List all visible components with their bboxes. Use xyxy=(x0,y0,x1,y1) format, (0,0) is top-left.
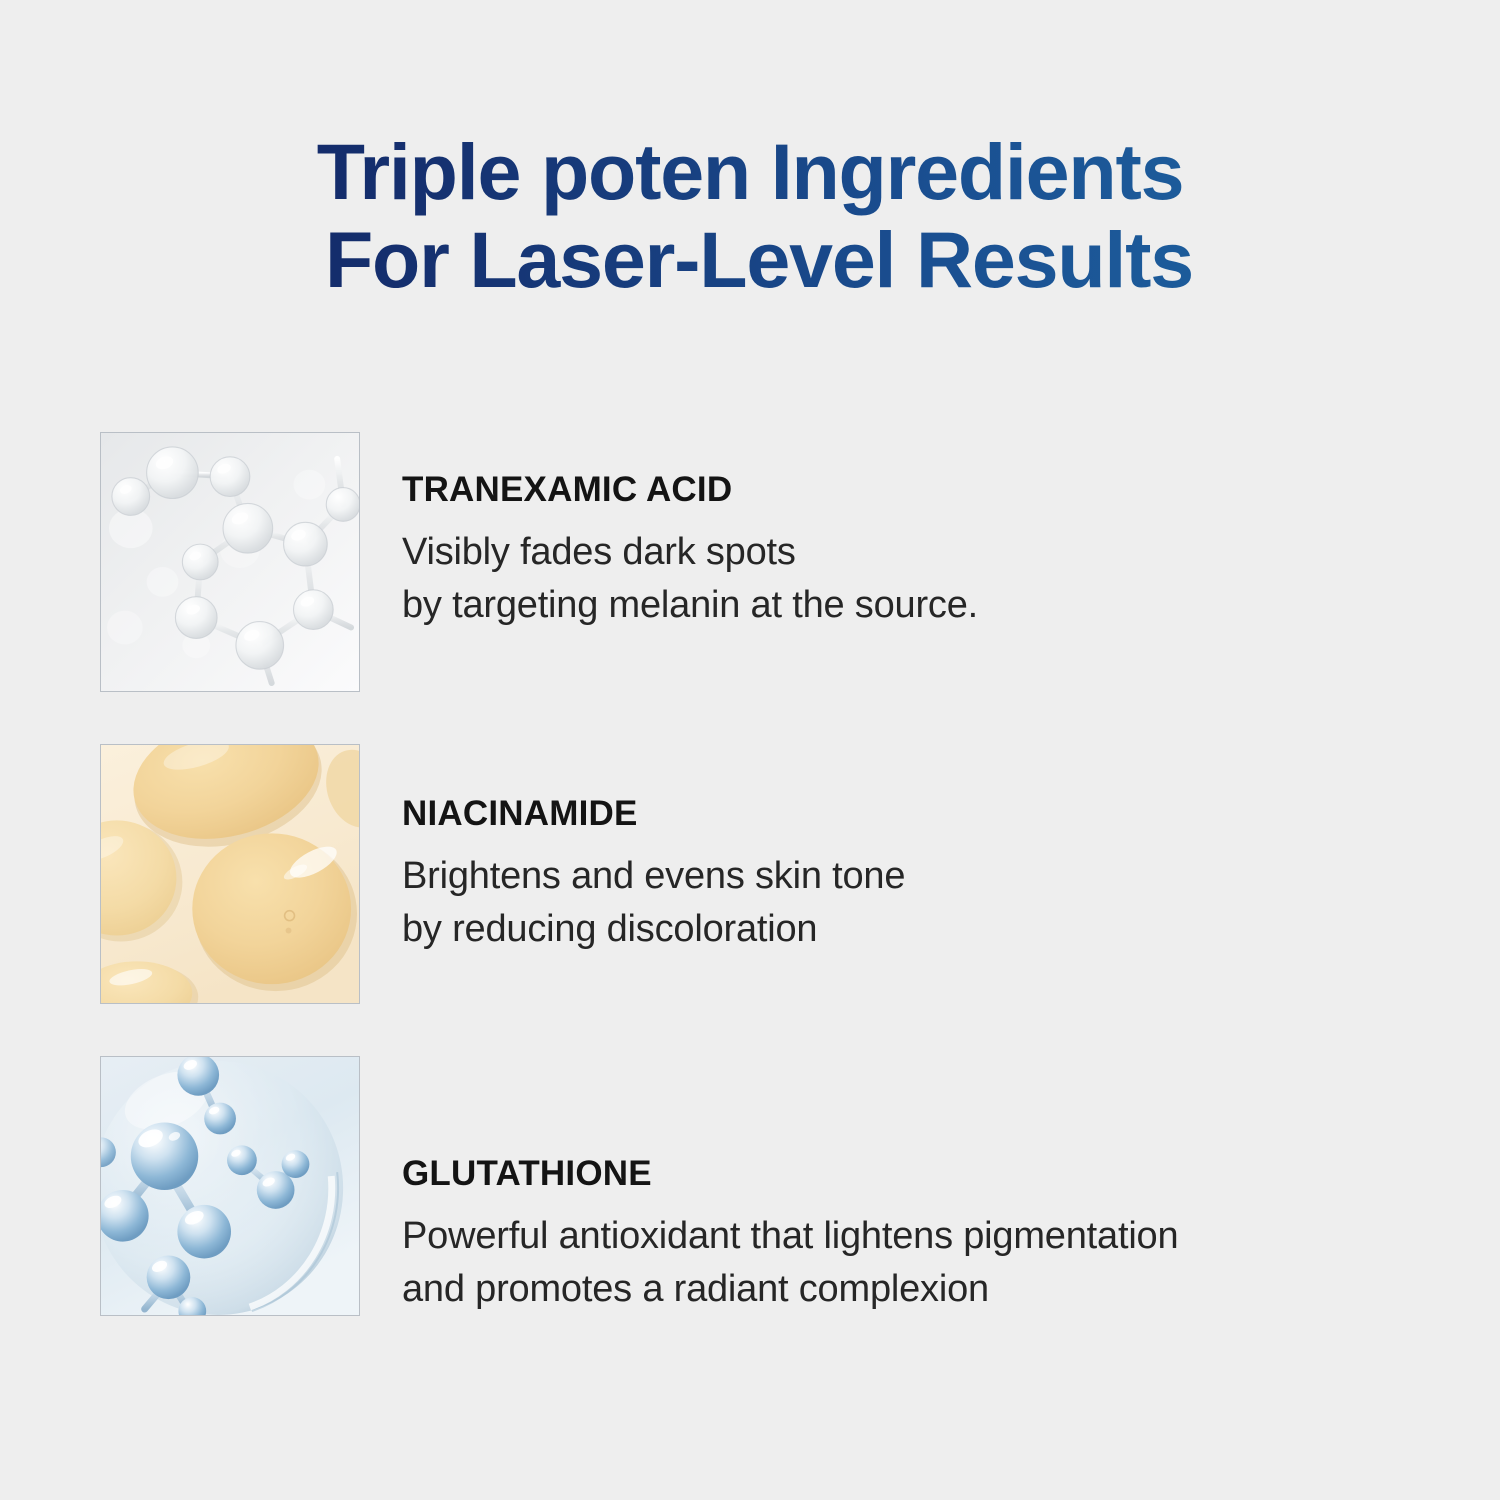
ingredient-copy: TRANEXAMIC ACID Visibly fades dark spots… xyxy=(402,432,1442,728)
page-title: Triple poten Ingredients For Laser-Level… xyxy=(0,128,1500,304)
ingredient-copy: NIACINAMIDE Brightens and evens skin ton… xyxy=(402,744,1442,1004)
ingredient-image-niacinamide xyxy=(100,744,360,1004)
white-molecule-lattice-icon xyxy=(101,433,359,691)
title-line-2: For Laser-Level Results xyxy=(0,216,1500,304)
golden-serum-droplets-icon xyxy=(101,745,359,1003)
ingredient-copy: GLUTATHIONE Powerful antioxidant that li… xyxy=(402,1056,1442,1332)
ingredient-name: TRANEXAMIC ACID xyxy=(402,468,1442,512)
ingredient-row: TRANEXAMIC ACID Visibly fades dark spots… xyxy=(0,432,1500,692)
ingredient-description: Powerful antioxidant that lightens pigme… xyxy=(402,1210,1442,1316)
description-line-2: by targeting melanin at the source. xyxy=(402,579,1442,632)
ingredient-row: GLUTATHIONE Powerful antioxidant that li… xyxy=(0,1056,1500,1316)
ingredient-description: Visibly fades dark spots by targeting me… xyxy=(402,526,1442,632)
description-line-1: Visibly fades dark spots xyxy=(402,526,1442,579)
description-line-1: Powerful antioxidant that lightens pigme… xyxy=(402,1210,1442,1263)
ingredient-name: NIACINAMIDE xyxy=(402,792,1442,836)
blue-molecules-in-droplet-icon xyxy=(101,1057,359,1315)
ingredient-image-glutathione xyxy=(100,1056,360,1316)
description-line-2: and promotes a radiant complexion xyxy=(402,1263,1442,1316)
ingredient-name: GLUTATHIONE xyxy=(402,1152,1442,1196)
ingredient-list: TRANEXAMIC ACID Visibly fades dark spots… xyxy=(0,432,1500,1368)
ingredient-row: NIACINAMIDE Brightens and evens skin ton… xyxy=(0,744,1500,1004)
infographic-page: Triple poten Ingredients For Laser-Level… xyxy=(0,0,1500,1500)
title-line-1: Triple poten Ingredients xyxy=(0,128,1500,216)
description-line-2: by reducing discoloration xyxy=(402,903,1442,956)
ingredient-description: Brightens and evens skin tone by reducin… xyxy=(402,850,1442,956)
ingredient-image-tranexamic-acid xyxy=(100,432,360,692)
description-line-1: Brightens and evens skin tone xyxy=(402,850,1442,903)
